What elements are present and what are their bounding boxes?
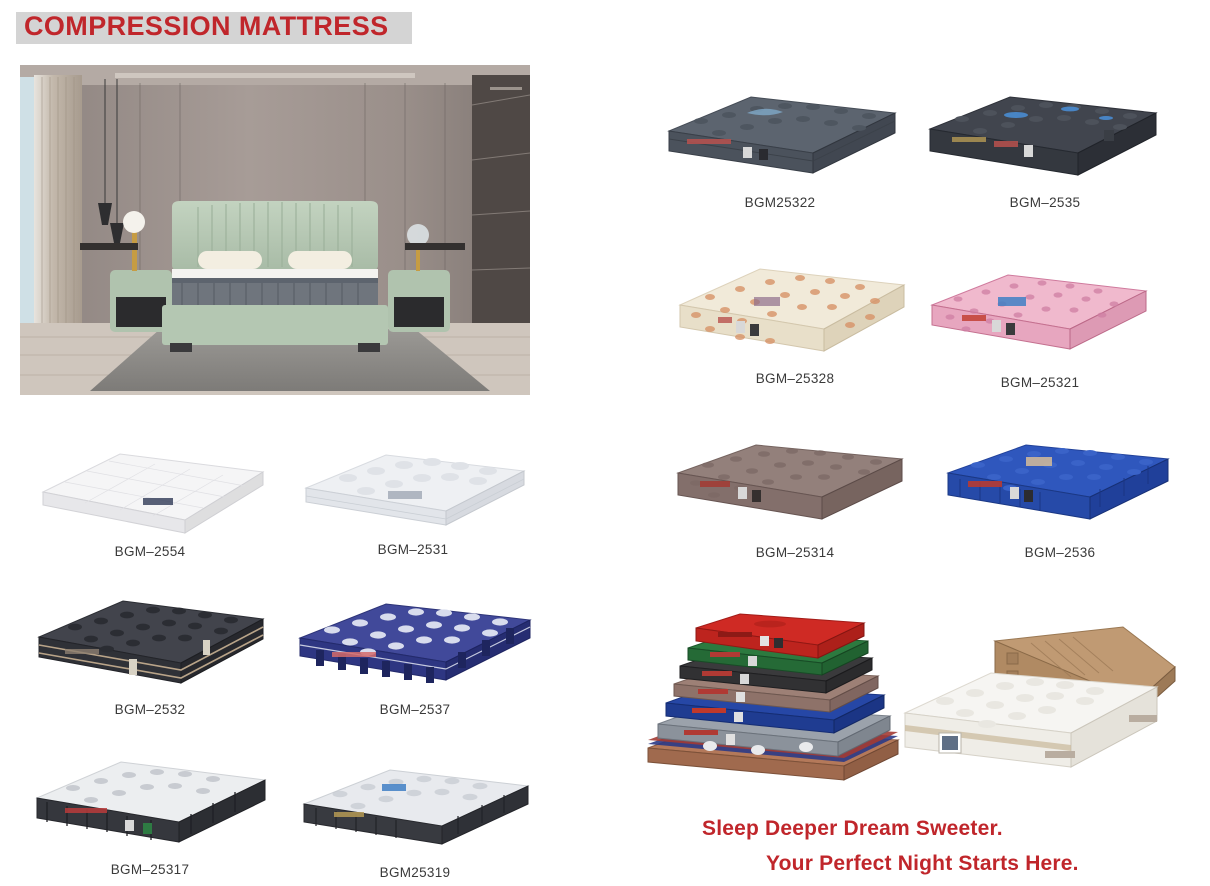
product-image-bgm-2554 xyxy=(25,430,275,540)
product-image-bgm-2536 xyxy=(940,435,1180,535)
product-image-bgm-25317 xyxy=(25,750,275,855)
product-card-bgm-25317[interactable]: BGM–25317 xyxy=(25,750,275,855)
product-image-bgm-25321 xyxy=(920,265,1160,365)
product-code: BGM–2536 xyxy=(940,545,1180,560)
product-card-bgm-2537[interactable]: BGM–2537 xyxy=(290,590,540,695)
product-code: BGM25322 xyxy=(655,195,905,210)
product-code: BGM–25314 xyxy=(670,545,920,560)
product-card-bgm-2532[interactable]: BGM–2532 xyxy=(25,585,275,695)
product-image-bgm-2537 xyxy=(290,590,540,695)
tagline-line-1: Sleep Deeper Dream Sweeter. xyxy=(702,817,1003,841)
product-code: BGM–2532 xyxy=(25,702,275,717)
hero-bedroom-image xyxy=(20,65,530,395)
boxed-mattress xyxy=(895,605,1190,790)
product-image-bgm25319 xyxy=(290,758,540,858)
product-image-bgm-25328 xyxy=(670,255,920,365)
product-code: BGM–2537 xyxy=(290,702,540,717)
product-code: BGM25319 xyxy=(290,865,540,880)
product-code: BGM–25328 xyxy=(670,371,920,386)
product-card-bgm-2535[interactable]: BGM–2535 xyxy=(920,85,1170,185)
product-card-bgm-2554[interactable]: BGM–2554 xyxy=(25,430,275,540)
product-card-bgm-2536[interactable]: BGM–2536 xyxy=(940,435,1180,535)
tagline-line-2: Your Perfect Night Starts Here. xyxy=(766,852,1079,876)
product-code: BGM–2535 xyxy=(920,195,1170,210)
product-card-bgm-2531[interactable]: BGM–2531 xyxy=(288,433,538,538)
product-card-bgm25322[interactable]: BGM25322 xyxy=(655,85,905,185)
product-image-bgm25322 xyxy=(655,85,905,185)
product-code: BGM–25317 xyxy=(25,862,275,877)
product-image-bgm-2535 xyxy=(920,85,1170,185)
product-image-colour-stack xyxy=(640,600,930,790)
product-code: BGM–25321 xyxy=(920,375,1160,390)
mattress-colour-stack xyxy=(640,600,930,790)
left-column: BGM–2554 BGM– xyxy=(0,0,600,886)
product-card-bgm-25321[interactable]: BGM–25321 xyxy=(920,265,1160,365)
product-image-boxed-mattress xyxy=(895,605,1190,790)
product-image-bgm-25314 xyxy=(670,435,920,535)
product-image-bgm-2532 xyxy=(25,585,275,695)
product-card-bgm25319[interactable]: BGM25319 xyxy=(290,758,540,858)
product-image-bgm-2531 xyxy=(288,433,538,538)
right-column: BGM25322 xyxy=(610,0,1210,886)
product-code: BGM–2554 xyxy=(25,544,275,559)
product-card-bgm-25314[interactable]: BGM–25314 xyxy=(670,435,920,535)
product-card-bgm-25328[interactable]: BGM–25328 xyxy=(670,255,920,365)
product-code: BGM–2531 xyxy=(288,542,538,557)
